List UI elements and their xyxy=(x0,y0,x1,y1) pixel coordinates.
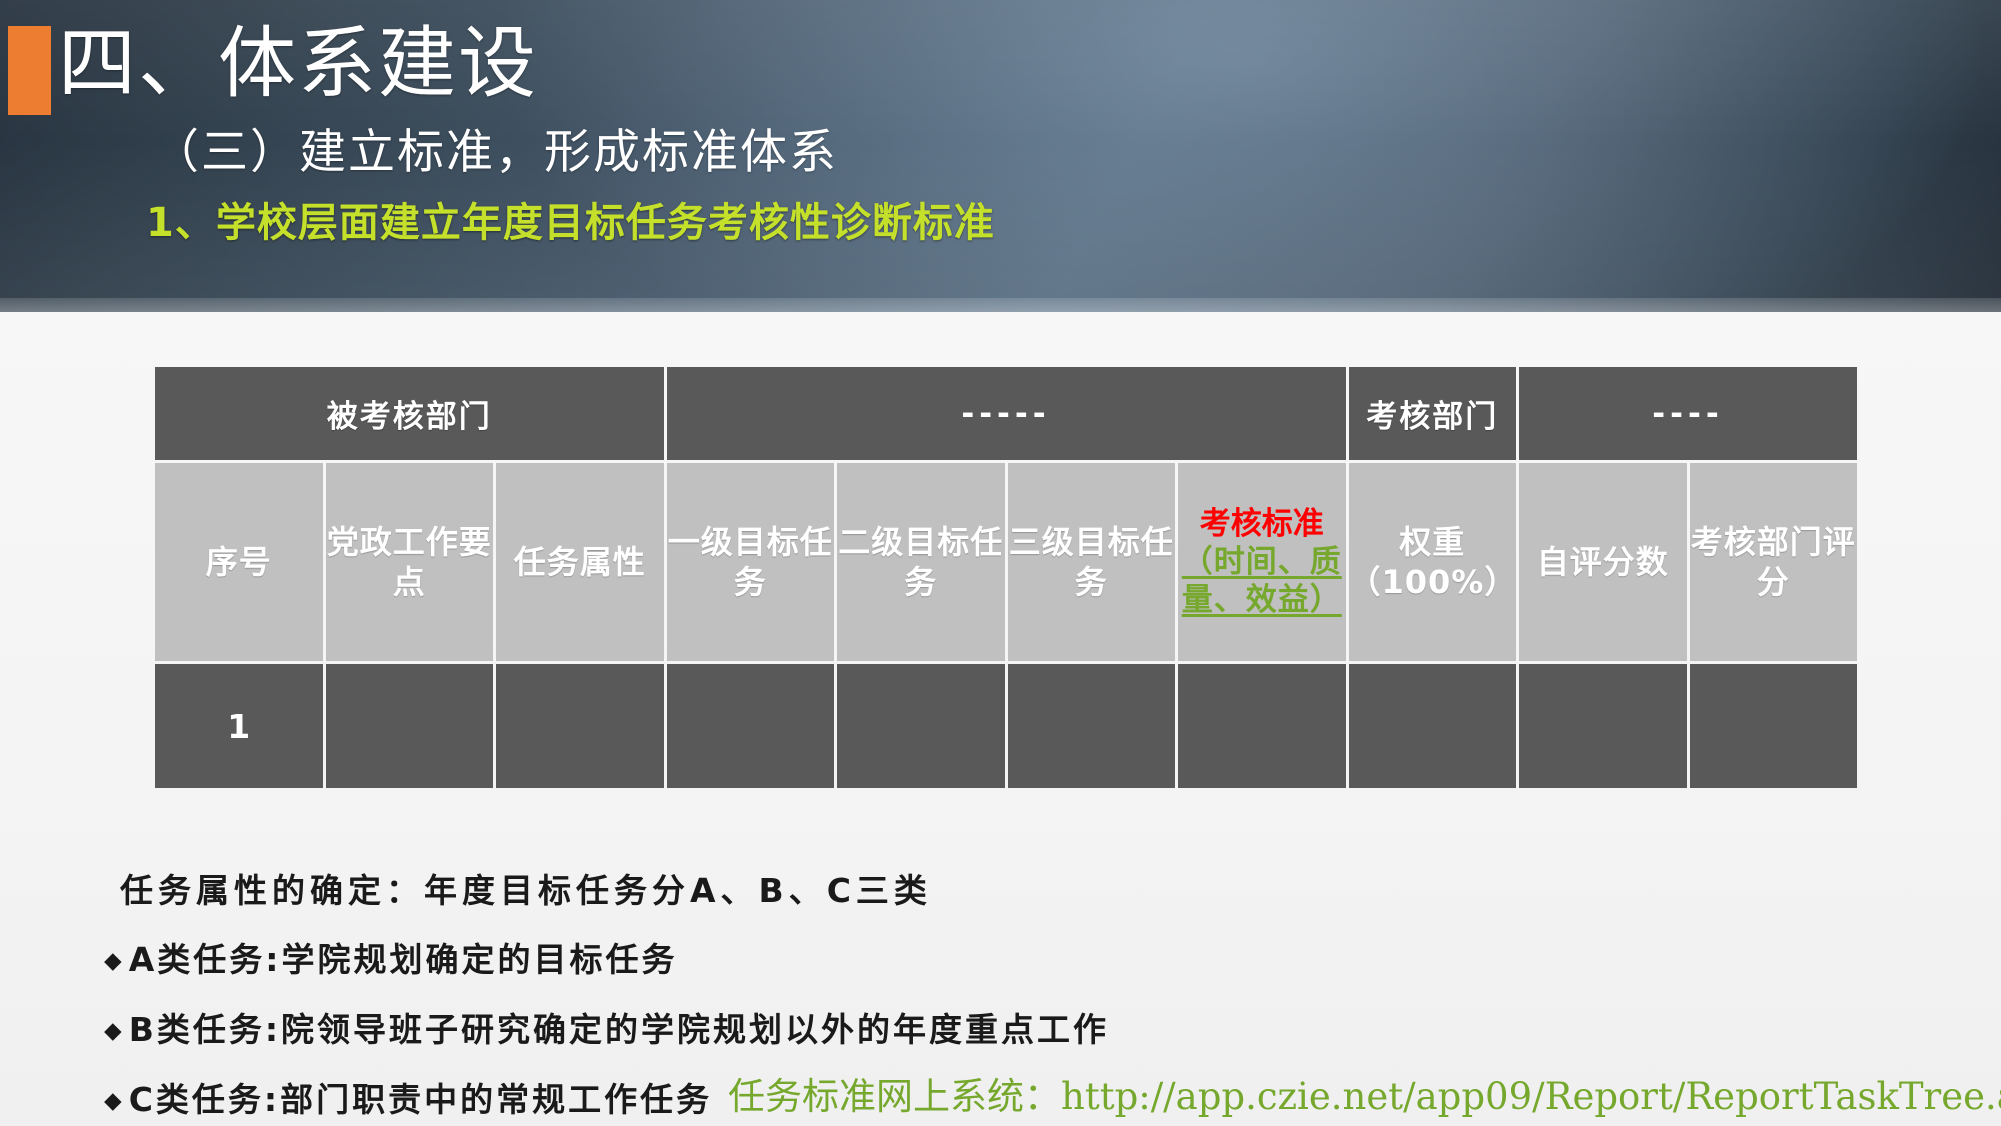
col-header-goal-l3: 三级目标任务 xyxy=(1008,463,1176,661)
col-header-dept-score: 考核部门评分 xyxy=(1690,463,1858,661)
assessment-table: 被考核部门 ----- 考核部门 ---- 序号 党政工作要点 任务属性 一级目… xyxy=(152,364,1860,791)
page-title: 四、体系建设 xyxy=(58,14,538,114)
accent-bar xyxy=(8,26,51,115)
col-header-weight: 权重（100%） xyxy=(1349,463,1517,661)
cell-work-point xyxy=(326,664,494,788)
cell-seq: 1 xyxy=(155,664,323,788)
cell-goal-l2 xyxy=(837,664,1005,788)
col-header-standard-title: 考核标准 xyxy=(1178,505,1346,543)
col-header-goal-l1: 一级目标任务 xyxy=(667,463,835,661)
cell-self-score xyxy=(1519,664,1687,788)
diamond-bullet-icon: ◆ xyxy=(104,1018,125,1044)
section-point-title: 1、学校层面建立年度目标任务考核性诊断标准 xyxy=(146,196,995,250)
note-item-a-text: A类任务:学院规划确定的目标任务 xyxy=(129,940,678,979)
cell-goal-l1 xyxy=(667,664,835,788)
group-header-dash-2: ---- xyxy=(1519,367,1857,460)
cell-weight xyxy=(1349,664,1517,788)
notes-lead-line: 任务属性的确定：年度目标任务分A、B、C三类 xyxy=(120,868,1894,914)
col-header-task-attr: 任务属性 xyxy=(496,463,664,661)
col-header-seq: 序号 xyxy=(155,463,323,661)
group-header-assessed-dept: 被考核部门 xyxy=(155,367,664,460)
diamond-bullet-icon: ◆ xyxy=(104,1088,125,1114)
table-row: 1 xyxy=(155,664,1857,788)
note-item-a: ◆A类任务:学院规划确定的目标任务 xyxy=(104,937,1894,984)
footer-system-url[interactable]: 任务标准网上系统：http://app.czie.net/app09/Repor… xyxy=(728,1074,2001,1120)
col-header-self-score: 自评分数 xyxy=(1519,463,1687,661)
table-group-row: 被考核部门 ----- 考核部门 ---- xyxy=(155,367,1857,460)
page-subtitle: （三）建立标准，形成标准体系 xyxy=(152,122,838,184)
cell-goal-l3 xyxy=(1008,664,1176,788)
note-item-c-text: C类任务:部门职责中的常规工作任务 xyxy=(129,1080,712,1119)
group-header-dash-1: ----- xyxy=(667,367,1346,460)
cell-standard xyxy=(1178,664,1346,788)
diamond-bullet-icon: ◆ xyxy=(104,948,125,974)
cell-task-attr xyxy=(496,664,664,788)
note-item-b-text: B类任务:院领导班子研究确定的学院规划以外的年度重点工作 xyxy=(129,1010,1109,1049)
col-header-standard-subtitle: （时间、质量、效益） xyxy=(1178,543,1346,619)
group-header-assessing-dept: 考核部门 xyxy=(1349,367,1517,460)
cell-dept-score xyxy=(1690,664,1858,788)
col-header-work-point: 党政工作要点 xyxy=(326,463,494,661)
note-item-b: ◆B类任务:院领导班子研究确定的学院规划以外的年度重点工作 xyxy=(104,1007,1894,1054)
col-header-standard: 考核标准 （时间、质量、效益） xyxy=(1178,463,1346,661)
table-column-header-row: 序号 党政工作要点 任务属性 一级目标任务 二级目标任务 三级目标任务 考核标准… xyxy=(155,463,1857,661)
slide: 四、体系建设 （三）建立标准，形成标准体系 1、学校层面建立年度目标任务考核性诊… xyxy=(0,0,2001,1126)
col-header-goal-l2: 二级目标任务 xyxy=(837,463,1005,661)
